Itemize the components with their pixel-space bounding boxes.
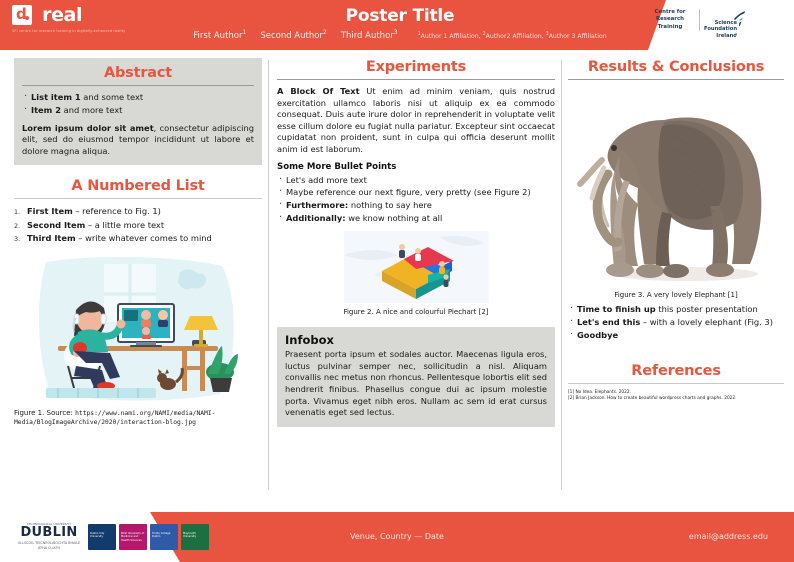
title-block: Poster Title First Author1 Second Author… [150, 6, 650, 41]
numbered-list-title: A Numbered List [14, 177, 262, 195]
figure-2-caption: Figure 2. A nice and colourful Piechart … [277, 308, 555, 317]
numbered-list: First Item – reference to Fig. 1) Second… [14, 205, 262, 245]
dreal-logo-dot [25, 16, 29, 20]
figure-1-image [32, 254, 244, 404]
venue-date: Venue, Country — Date [0, 532, 794, 541]
figure-1-caption: Figure 1. Source: https://www.nami.org/N… [14, 409, 262, 428]
infobox-text: Praesent porta ipsum et sodales auctor. … [285, 349, 547, 419]
dreal-logo: d real SFI centre for research training … [12, 4, 142, 46]
experiments-rule [277, 79, 555, 80]
list-item: Second Item – a little more text [14, 219, 262, 232]
numbered-list-rule [14, 198, 262, 199]
bullets-subheading: Some More Bullet Points [277, 162, 555, 172]
author-2: Second Author2 [260, 29, 326, 41]
list-item: Let's end this – with a lovely elephant … [568, 317, 784, 329]
figure-3-caption: Figure 3. A very lovely Elephant [1] [568, 291, 784, 300]
references-title: References [568, 362, 784, 380]
list-item: First Item – reference to Fig. 1) [14, 205, 262, 218]
references-rule [568, 383, 784, 384]
experiments-paragraph: A Block Of Text Ut enim ad minim veniam,… [277, 86, 555, 156]
sfi-logo-tagline: For what's next [739, 34, 779, 39]
poster-footer: TECHNOLOGICAL UNIVERSITY DUBLIN OLLSCOIL… [0, 512, 794, 562]
author-3: Third Author3 [341, 29, 398, 41]
dreal-logo-word: real [42, 4, 82, 26]
right-column: Results & Conclusions [568, 58, 784, 403]
abstract-title: Abstract [22, 64, 254, 82]
mid-column: Experiments A Block Of Text Ut enim ad m… [277, 58, 555, 427]
sfi-logo-words: Science Foundation Ireland [704, 20, 737, 39]
poster-title: Poster Title [150, 6, 650, 26]
poster-header: d real SFI centre for research training … [0, 0, 794, 50]
contact-email[interactable]: email@address.edu [689, 532, 768, 541]
abstract-paragraph: Lorem ipsum dolor sit amet, consectetur … [22, 123, 254, 158]
dreal-logo-mark: d [12, 5, 32, 25]
list-item: Furthermore: nothing to say here [277, 200, 555, 212]
references-list: [1] No Idea. Elephants. 2022. [2] Brian … [568, 390, 784, 403]
infobox-title: Infobox [285, 333, 547, 347]
tu-dublin-sub: OLLSCOIL TEICNEOLAÍOCHTA BHAILE ÁTHA CLI… [14, 541, 84, 550]
abstract-bullets: List item 1 and some text Item 2 and mor… [22, 92, 254, 117]
infobox: Infobox Praesent porta ipsum et sodales … [277, 327, 555, 427]
list-item: Goodbye [568, 330, 784, 342]
left-column: Abstract List item 1 and some text Item … [14, 58, 262, 427]
poster-root: d real SFI centre for research training … [0, 0, 794, 562]
list-item: Third Item – write whatever comes to min… [14, 232, 262, 245]
list-item: Let's add more text [277, 175, 555, 187]
conclusion-bullets: Time to finish up this poster presentati… [568, 304, 784, 341]
list-item: Maybe reference our next figure, very pr… [277, 187, 555, 199]
list-item: Additionally: we know nothing at all [277, 213, 555, 225]
results-title: Results & Conclusions [568, 58, 784, 76]
experiments-title: Experiments [277, 58, 555, 76]
experiments-bullets: Let's add more text Maybe reference our … [277, 175, 555, 225]
list-item: Time to finish up this poster presentati… [568, 304, 784, 316]
crt-logo-text: Centre for Research Training [645, 9, 700, 31]
abstract-box: Abstract List item 1 and some text Item … [14, 58, 262, 165]
affiliations: 1Author 1 Affiliation, 2Author2 Affiliat… [418, 32, 607, 40]
column-divider-right [561, 60, 562, 490]
results-rule [568, 79, 784, 80]
author-1: First Author1 [193, 29, 246, 41]
sfi-logo-acronym: sfi [738, 17, 761, 36]
dreal-logo-tagline: SFI centre for research training in digi… [12, 29, 132, 34]
abstract-rule [22, 85, 254, 86]
sfi-logo: Science Foundation Ireland sfi For what'… [704, 8, 788, 42]
column-divider-left [268, 60, 269, 490]
list-item: List item 1 and some text [22, 92, 254, 104]
figure-2-image [344, 231, 489, 303]
poster-body: Abstract List item 1 and some text Item … [0, 50, 794, 512]
list-item: [2] Brian Jackson. How to create beautif… [568, 396, 784, 403]
figure-3-image [568, 86, 784, 286]
authors-row: First Author1 Second Author2 Third Autho… [150, 29, 650, 41]
list-item: Item 2 and more text [22, 105, 254, 117]
